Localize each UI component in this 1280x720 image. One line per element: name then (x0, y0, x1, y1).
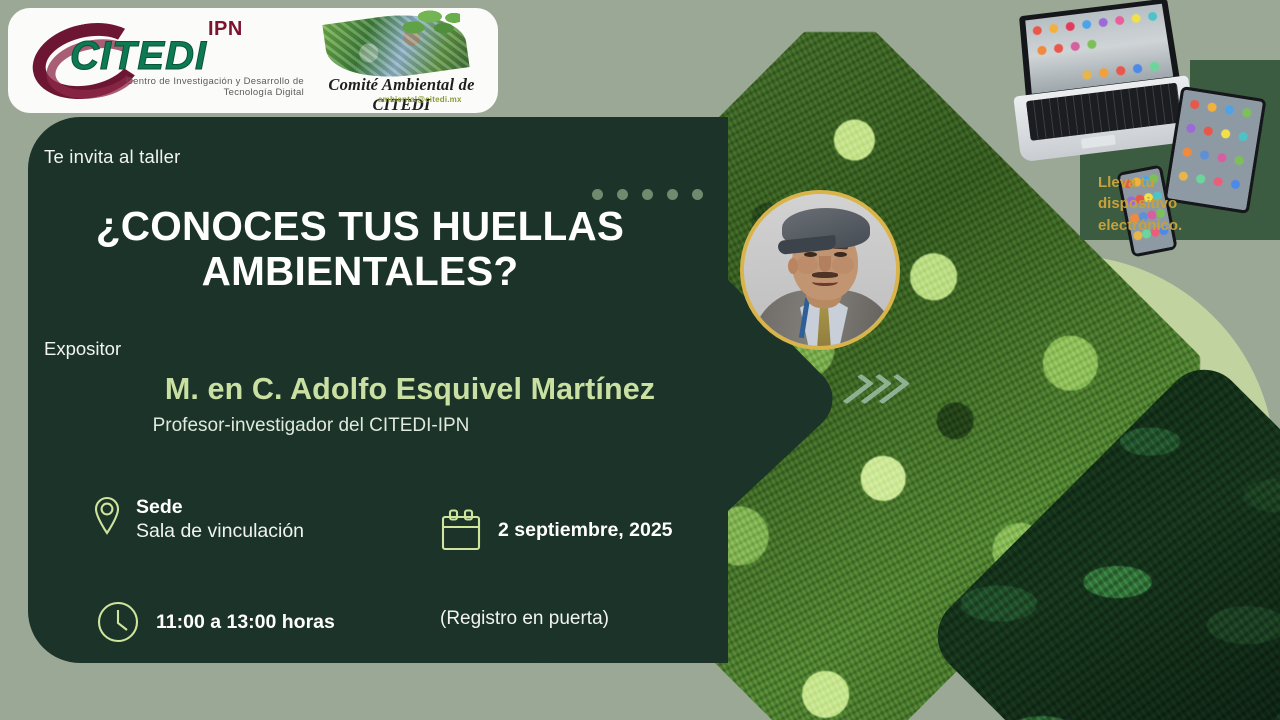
ipn-label: IPN (208, 18, 243, 41)
dot (667, 189, 678, 200)
dot (692, 189, 703, 200)
calendar-icon (440, 508, 482, 552)
dot (592, 189, 603, 200)
devices-note: Lleva tu dispositivo electrónico. (1098, 172, 1208, 236)
citedi-acronym: CITEDI (70, 34, 207, 79)
venue-row: Sede Sala de vinculación (92, 495, 304, 545)
page-title: ¿CONOCES TUS HUELLAS AMBIENTALES? (60, 204, 660, 295)
triple-chevron-right-icon (846, 372, 898, 406)
speaker-role: Profesor-investigador del CITEDI-IPN (60, 415, 562, 437)
poster-canvas: Lleva tu dispositivo electrónico. CITEDI… (0, 0, 1280, 720)
venue-label: Sede (136, 495, 304, 519)
registration-note: (Registro en puerta) (440, 608, 609, 630)
venue-value: Sala de vinculación (136, 519, 304, 544)
comite-subtitle: ambiental@citedi.mx (378, 95, 462, 104)
logo-panel: CITEDI IPN Centro de Investigación y Des… (8, 8, 498, 113)
invitation-intro: Te invita al taller (44, 146, 180, 168)
time-row: 11:00 a 13:00 horas (96, 600, 335, 644)
speaker-label: Expositor (44, 338, 121, 360)
leaf-sprig-icon (402, 7, 460, 41)
map-pin-icon (92, 495, 122, 535)
keyboard-icon (1026, 83, 1182, 141)
registration-text: (Registro en puerta) (440, 608, 609, 630)
date-row: 2 septiembre, 2025 (440, 508, 673, 552)
citedi-subtitle: Centro de Investigación y Desarrollo de … (84, 76, 304, 100)
event-date: 2 septiembre, 2025 (498, 518, 673, 542)
dot (642, 189, 653, 200)
devices-note-line-3: electrónico. (1098, 215, 1208, 236)
speaker-name: M. en C. Adolfo Esquivel Martínez (60, 372, 760, 407)
clock-icon (96, 600, 140, 644)
devices-note-line-2: dispositivo (1098, 193, 1208, 214)
event-time: 11:00 a 13:00 horas (156, 610, 335, 634)
comite-ambiental-logo: Comité Ambiental de CITEDI ambiental@cit… (318, 13, 483, 109)
dot (617, 189, 628, 200)
speaker-avatar (740, 190, 900, 350)
citedi-logo: CITEDI IPN Centro de Investigación y Des… (32, 18, 304, 104)
laptop-illustration (1004, 0, 1197, 166)
devices-note-line-1: Lleva tu (1098, 172, 1208, 193)
decorative-dots (592, 189, 703, 200)
